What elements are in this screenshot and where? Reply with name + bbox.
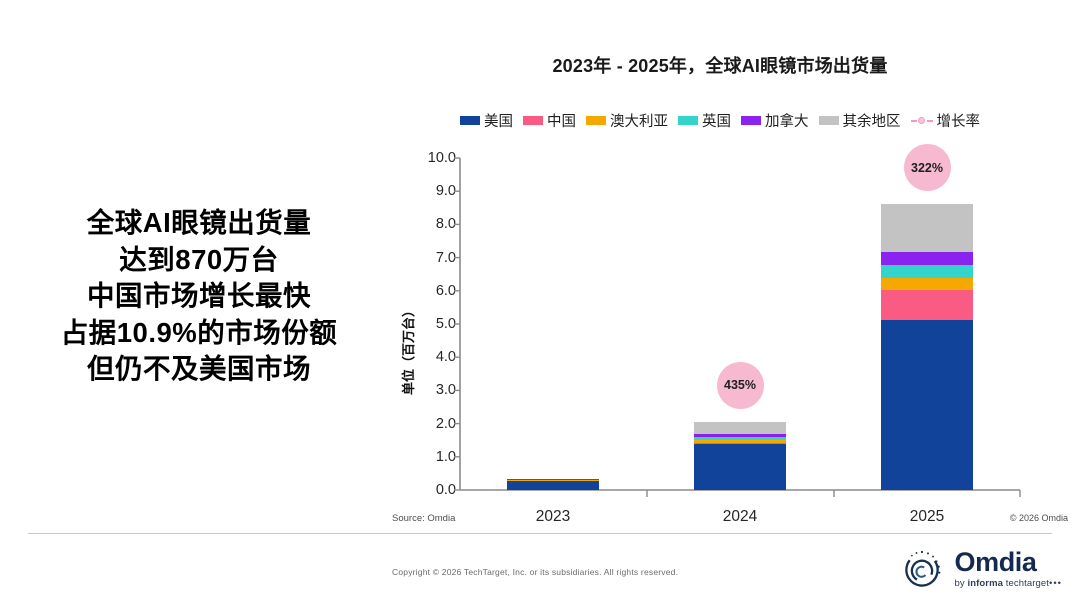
bars-layer: 20232024435%2025322%: [400, 140, 1050, 520]
bar-stack: [881, 204, 973, 490]
bar-stack: [694, 422, 786, 490]
legend-item-1[interactable]: 中国: [523, 110, 576, 131]
bar-segment-美国[interactable]: [881, 320, 973, 490]
omdia-logo: Omdia by informa techtarget•••: [899, 546, 1062, 592]
legend-label: 澳大利亚: [610, 110, 668, 131]
omdia-tag-dots: •••: [1049, 578, 1062, 589]
growth-rate-bubble-2024[interactable]: 435%: [717, 362, 764, 409]
bar-group-2023[interactable]: [507, 140, 599, 490]
growth-rate-bubble-2025[interactable]: 322%: [904, 144, 951, 191]
bar-segment-美国[interactable]: [507, 481, 599, 490]
bar-segment-英国[interactable]: [881, 265, 973, 278]
bar-group-2025[interactable]: [881, 140, 973, 490]
footer-divider: [28, 533, 1052, 534]
headline-block: 全球AI眼镜出货量 达到870万台 中国市场增长最快 占据10.9%的市场份额 …: [18, 205, 380, 388]
headline-line-2: 达到870万台: [18, 242, 380, 279]
headline-line-5: 但仍不及美国市场: [18, 351, 380, 388]
chart-title: 2023年 - 2025年，全球AI眼镜市场出货量: [400, 52, 1040, 78]
legend-swatch-icon: [678, 116, 698, 125]
footer-copyright: Copyright © 2026 TechTarget, Inc. or its…: [392, 567, 678, 577]
legend-item-5[interactable]: 其余地区: [819, 110, 901, 131]
legend-item-0[interactable]: 美国: [460, 110, 513, 131]
legend-label: 增长率: [937, 110, 981, 131]
bar-segment-美国[interactable]: [694, 444, 786, 490]
legend-swatch-icon: [523, 116, 543, 125]
headline-line-3: 中国市场增长最快: [18, 278, 380, 315]
omdia-tagline: by informa techtarget•••: [954, 579, 1062, 589]
chart-legend: 美国中国澳大利亚英国加拿大其余地区增长率: [400, 110, 1040, 131]
chart-plot-area: 单位（百万台） 10.09.08.07.06.05.04.03.02.01.00…: [400, 140, 1050, 520]
omdia-logo-icon: [899, 546, 945, 592]
legend-item-3[interactable]: 英国: [678, 110, 731, 131]
legend-item-growth-rate[interactable]: 增长率: [911, 110, 981, 131]
legend-label: 英国: [702, 110, 731, 131]
slide-canvas: 全球AI眼镜出货量 达到870万台 中国市场增长最快 占据10.9%的市场份额 …: [0, 0, 1080, 608]
x-tick-label: 2024: [690, 508, 790, 526]
omdia-tag-suffix: techtarget: [1003, 578, 1049, 589]
x-tick-label: 2023: [503, 508, 603, 526]
legend-label: 其余地区: [843, 110, 901, 131]
bar-segment-其余地区[interactable]: [881, 204, 973, 252]
bar-segment-加拿大[interactable]: [881, 252, 973, 265]
x-tick-label: 2025: [877, 508, 977, 526]
chart-copyright: © 2026 Omdia: [1010, 513, 1068, 523]
legend-label: 美国: [484, 110, 513, 131]
omdia-tag-bold: informa: [967, 578, 1003, 589]
legend-item-2[interactable]: 澳大利亚: [586, 110, 668, 131]
bar-group-2024[interactable]: [694, 140, 786, 490]
bar-segment-其余地区[interactable]: [694, 422, 786, 434]
omdia-name: Omdia: [954, 549, 1062, 576]
bar-stack: [507, 479, 599, 490]
legend-swatch-icon: [586, 116, 606, 125]
bar-segment-中国[interactable]: [881, 290, 973, 320]
omdia-tag-prefix: by: [954, 578, 967, 589]
headline-line-4: 占据10.9%的市场份额: [18, 315, 380, 352]
legend-label: 加拿大: [765, 110, 809, 131]
bar-segment-澳大利亚[interactable]: [881, 278, 973, 290]
legend-swatch-icon: [819, 116, 839, 125]
legend-item-4[interactable]: 加拿大: [741, 110, 809, 131]
legend-swatch-icon: [741, 116, 761, 125]
growth-line-marker-icon: [911, 116, 933, 125]
source-note: Source: Omdia: [392, 513, 455, 524]
omdia-wordmark: Omdia by informa techtarget•••: [954, 549, 1062, 589]
legend-swatch-icon: [460, 116, 480, 125]
legend-label: 中国: [547, 110, 576, 131]
headline-line-1: 全球AI眼镜出货量: [18, 205, 380, 242]
